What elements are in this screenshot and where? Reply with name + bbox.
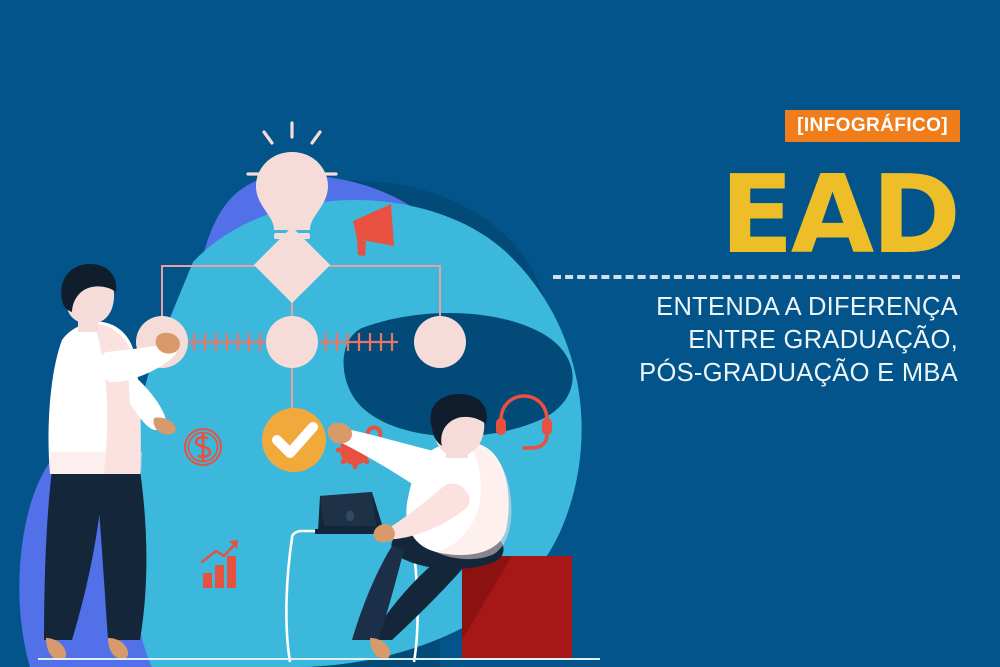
headline-panel: [INFOGRÁFICO] EAD ENTENDA A DIFERENÇA EN…: [540, 110, 960, 440]
page-title: EAD: [540, 170, 960, 263]
badge-row: [INFOGRÁFICO]: [540, 110, 960, 142]
check-circle-icon: [262, 408, 326, 472]
subtitle-line-1: ENTENDA A DIFERENÇA: [540, 291, 958, 324]
flow-node-right: [414, 316, 466, 368]
subtitle-line-2: ENTRE GRADUAÇÃO,: [540, 324, 958, 357]
infographic-banner: [INFOGRÁFICO] EAD ENTENDA A DIFERENÇA EN…: [0, 0, 1000, 667]
page-subtitle: ENTENDA A DIFERENÇA ENTRE GRADUAÇÃO, PÓS…: [540, 291, 960, 390]
flow-node-center: [266, 316, 318, 368]
red-box: [462, 556, 572, 658]
infographic-badge: [INFOGRÁFICO]: [785, 110, 960, 142]
subtitle-line-3: PÓS-GRADUAÇÃO E MBA: [540, 357, 958, 390]
